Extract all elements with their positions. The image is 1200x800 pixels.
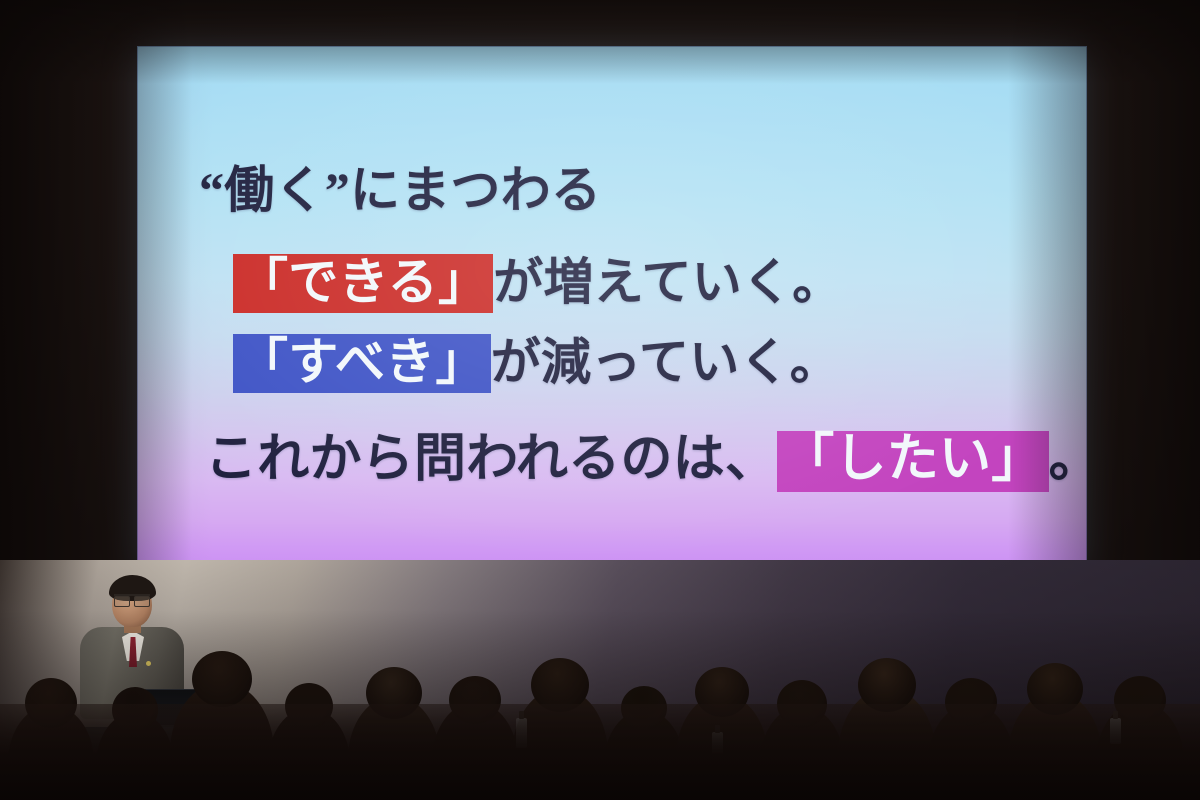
projection-screen: “働く”にまつわる 「できる」が増えていく。 「すべき」が減っていく。 これから… <box>137 46 1087 574</box>
slide-line-2-tail: が増えていく。 <box>493 242 842 314</box>
podium-front-panel <box>108 757 180 793</box>
slide-line-4: これから問われるのは、「したい」。 <box>205 416 1101 492</box>
highlight-dekiru: 「できる」 <box>233 254 493 313</box>
slide-line-1-text: “働く”にまつわる <box>199 162 601 218</box>
presentation-photo-stage: “働く”にまつわる 「できる」が増えていく。 「すべき」が減っていく。 これから… <box>0 0 1200 800</box>
highlight-shitai: 「したい」 <box>777 431 1048 492</box>
slide-line-4-lead: これから問われるのは、 <box>205 416 777 491</box>
slide-content: “働く”にまつわる 「できる」が増えていく。 「すべき」が減っていく。 これから… <box>137 46 1087 574</box>
speaker-lapel-pin <box>146 661 151 666</box>
laptop-screen <box>143 689 233 729</box>
speaker-glasses <box>114 594 150 605</box>
highlight-subeki: 「すべき」 <box>233 334 491 393</box>
slide-line-1: “働く”にまつわる <box>199 150 601 222</box>
slide-line-4-tail: 。 <box>1049 416 1101 491</box>
slide-line-2: 「できる」が増えていく。 <box>233 242 843 314</box>
slide-line-3: 「すべき」が減っていく。 <box>233 322 840 394</box>
slide-line-3-tail: が減っていく。 <box>491 322 840 394</box>
speaker-at-podium <box>70 575 300 775</box>
